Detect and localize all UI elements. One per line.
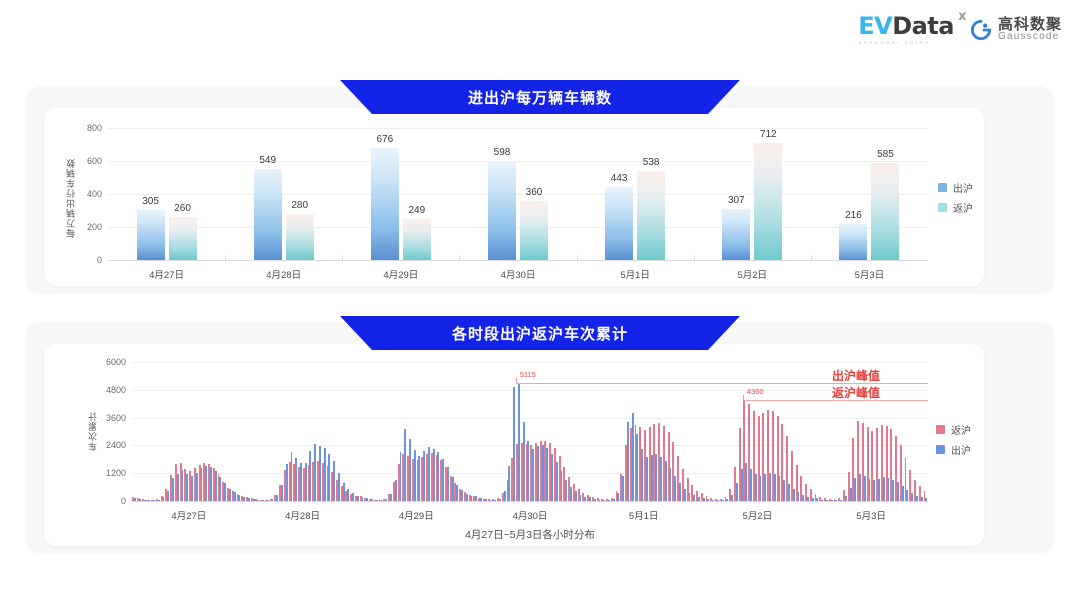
chart2-hbar-out: [906, 490, 908, 501]
chart1-legend-swatch-返沪: [938, 203, 947, 212]
chart2-hbar-out: [556, 462, 558, 501]
chart1-title-banner: 进出沪每万辆车辆数: [340, 80, 740, 114]
chart2-hbar-out: [689, 493, 691, 501]
chart1-gridline: [108, 260, 928, 261]
chart2-x-tick-4月28日: 4月28日: [285, 508, 320, 522]
chart1-bar-value: 712: [760, 129, 777, 140]
chart2-hbar-out: [835, 500, 837, 501]
chart2-hbar-out: [182, 470, 184, 501]
chart2-hbar-out: [788, 484, 790, 501]
chart2-legend-label: 出沪: [951, 442, 971, 457]
chart2-hbar-out: [148, 500, 150, 501]
chart2-hbar-out: [608, 500, 610, 501]
chart2-hbar-out: [504, 491, 506, 501]
chart2-hbar-out: [366, 498, 368, 501]
chart2-hbar-out: [821, 500, 823, 502]
chart2-hbar-out: [755, 474, 757, 501]
gausscode-en: Gausscode: [998, 32, 1062, 43]
chart2-hbar-out: [428, 447, 430, 501]
chart2-hbar-out: [395, 480, 397, 501]
chart2-hbar-out: [338, 473, 340, 501]
chart2-hbar-out: [243, 497, 245, 501]
chart2-hbar-out: [779, 476, 781, 501]
chart2-hbar-out: [537, 446, 539, 501]
chart2-hbar-out: [210, 467, 212, 501]
chart2-hbar-out: [565, 480, 567, 501]
chart2-hbar-out: [267, 500, 269, 501]
chart2-hbar-out: [234, 492, 236, 501]
chart2-hbar-out: [679, 483, 681, 501]
chart2-hbar-out: [205, 466, 207, 501]
chart2-plot: 车次累计0120024003600480060004月27日4月28日4月29日…: [132, 362, 928, 501]
chart1-bar-value: 249: [409, 205, 426, 216]
chart1-y-tick: 400: [74, 189, 102, 199]
chart1-bar-返沪-5月1日: [637, 171, 665, 260]
chart2-y-tick: 1200: [96, 468, 126, 478]
chart2-hbar-out: [253, 499, 255, 501]
chart2-hbar-out: [201, 468, 203, 501]
chart2-hbar-out: [632, 413, 634, 501]
chart2-peak-value-fanhu: 4360: [747, 387, 764, 396]
chart1-bar-value: 598: [494, 147, 511, 158]
chart2-legend-swatch-出沪: [936, 445, 945, 454]
gausscode-cn: 高科数聚: [998, 17, 1062, 33]
chart2-hbar-out: [850, 488, 852, 501]
chart2-hbar-out: [769, 473, 771, 501]
chart2-hbar-out: [309, 451, 311, 501]
chart2-title-banner: 各时段出沪返沪车次累计: [340, 316, 740, 350]
chart2-hbar-out: [670, 468, 672, 501]
chart1-legend-item-出沪: 出沪: [938, 180, 973, 195]
chart2-hbar-out: [665, 461, 667, 501]
chart1-bar-返沪-4月28日: [286, 214, 314, 260]
chart2-hbar-out: [580, 495, 582, 501]
chart2-hbar-out: [286, 464, 288, 501]
chart2-peak-value-chuhu: 5115: [520, 370, 536, 379]
chart1-x-tick-5月1日: 5月1日: [620, 267, 650, 281]
chart1-plot: 每万辆出行车辆数02004006008003052604月27日5492804月…: [108, 128, 928, 260]
chart2-hbar-out: [381, 500, 383, 501]
chart2-hbar-out: [622, 476, 624, 501]
chart2-hbar-out: [864, 476, 866, 501]
chart1-bar-出沪-5月1日: [605, 187, 633, 260]
chart2-hbar-out: [883, 477, 885, 501]
chart2-x-tick-4月29日: 4月29日: [399, 508, 434, 522]
chart2-x-tick-4月30日: 4月30日: [513, 508, 548, 522]
chart2-hbar-out: [764, 474, 766, 501]
chart2-hbar-out: [845, 496, 847, 501]
chart1-bar-value: 538: [643, 157, 660, 168]
chart1-y-tick: 0: [74, 255, 102, 265]
chart2-hbar-out: [352, 493, 354, 501]
chart2-hbar-out: [490, 500, 492, 501]
chart2-hbar-out: [551, 454, 553, 501]
chart1-bar-出沪-5月2日: [722, 209, 750, 260]
chart1-legend-label: 出沪: [953, 180, 973, 195]
chart1-gridline: [108, 194, 928, 195]
chart2-hbar-out: [527, 441, 529, 501]
chart2-hbar-out: [452, 477, 454, 501]
chart1-bar-value: 305: [142, 196, 159, 207]
chart1-bar-出沪-4月27日: [137, 210, 165, 260]
chart2-caption: 4月27日~5月3日各小时分布: [465, 527, 595, 542]
chart1-bar-返沪-4月29日: [403, 219, 431, 260]
chart2-hbar-out: [485, 499, 487, 501]
chart2-hbar-out: [456, 485, 458, 501]
chart2-hbar-out: [518, 383, 520, 501]
chart2-hbar-out: [826, 500, 828, 501]
chart2-hbar-out: [229, 489, 231, 501]
chart1-bar-value: 676: [377, 134, 394, 145]
chart1-bar-出沪-5月3日: [839, 224, 867, 260]
chart2-y-tick: 2400: [96, 440, 126, 450]
chart2-hbar-out: [167, 491, 169, 501]
chart2-hbar-out: [655, 454, 657, 501]
chart2-x-tick-5月3日: 5月3日: [856, 508, 886, 522]
chart2-hbar-out: [869, 479, 871, 501]
chart2-hbar-out: [745, 463, 747, 501]
page-header: EVData x SHANGHAI CHINA 高科数聚 Gausscode: [0, 0, 1080, 62]
chart2-hbar-out: [333, 461, 335, 501]
chart2-hbar-out: [390, 494, 392, 501]
chart1-gridline: [108, 227, 928, 228]
chart2-hbar-out: [660, 457, 662, 501]
chart2-y-axis-label: 车次累计: [86, 382, 99, 481]
chart1-bar-value: 260: [174, 203, 191, 214]
chart2-gridline: [132, 390, 928, 391]
chart2-hbar-out: [404, 429, 406, 501]
chart2-hbar-out: [722, 500, 724, 501]
chart2-hbar-out: [798, 492, 800, 501]
chart2-hbar-out: [508, 466, 510, 501]
chart2-hbar-out: [594, 499, 596, 501]
chart2-hbar-out: [418, 456, 420, 501]
chart1-x-tick-4月27日: 4月27日: [149, 267, 184, 281]
chart2-hbar-out: [854, 478, 856, 501]
chart2-hbar-out: [570, 487, 572, 501]
chart2-hbar-out: [305, 463, 307, 501]
chart2-hbar-out: [831, 500, 833, 501]
chart2-hbar-out: [816, 498, 818, 501]
chart2-hbar-out: [433, 449, 435, 501]
chart1-bar-value: 360: [526, 187, 543, 198]
chart2-hbar-out: [902, 486, 904, 501]
chart2-hbar-out: [475, 496, 477, 501]
chart2-hbar-out: [736, 483, 738, 501]
chart1-bar-value: 307: [728, 195, 745, 206]
evdata-superscript-x: x: [958, 10, 966, 23]
chart2-hbar-out: [219, 477, 221, 501]
chart2-hbar-out: [599, 500, 601, 502]
chart1-x-tick-4月29日: 4月29日: [383, 267, 418, 281]
chart2-hbar-out: [281, 485, 283, 501]
chart2-hbar-out: [257, 500, 259, 501]
chart2-gridline: [132, 501, 928, 502]
chart2-hbar-out: [215, 471, 217, 501]
chart2-hbar-out: [400, 452, 402, 501]
evdata-wordmark: EVData x: [858, 14, 954, 38]
chart2-hbar-out: [575, 491, 577, 501]
chart2-hbar-out: [139, 499, 141, 501]
chart1-x-gridmark: [577, 255, 578, 260]
chart2-hbar-out: [414, 450, 416, 501]
chart2-peaktick-fanhu: [743, 395, 744, 400]
chart2-hbar-out: [731, 495, 733, 501]
chart2-hbar-out: [276, 495, 278, 501]
chart2-hbar-out: [873, 480, 875, 501]
chart2-hbar-out: [295, 458, 297, 501]
chart1-y-tick: 600: [74, 156, 102, 166]
chart2-hbar-out: [774, 474, 776, 501]
chart2-hbar-out: [698, 497, 700, 501]
chart2-hbar-out: [532, 449, 534, 501]
chart2-hbar-out: [916, 496, 918, 501]
chart1-bar-value: 443: [611, 173, 628, 184]
chart2-hbar-out: [703, 498, 705, 501]
chart2-legend-item-返沪: 返沪: [936, 422, 971, 437]
chart1-gridline: [108, 128, 928, 129]
chart2-hbar-out: [693, 495, 695, 501]
chart1-x-tick-5月3日: 5月3日: [855, 267, 885, 281]
evdata-subtitle: SHANGHAI CHINA: [858, 41, 930, 46]
chart2-hbar-out: [760, 476, 762, 501]
chart2-hbar-out: [191, 476, 193, 501]
chart2-hbar-out: [627, 422, 629, 501]
chart2-hbar-out: [589, 497, 591, 501]
chart2-hbar-out: [859, 474, 861, 501]
chart2-hbar-out: [272, 499, 274, 501]
chart2-hbar-out: [442, 459, 444, 501]
chart2-hbar-out: [793, 489, 795, 502]
chart2-hbar-out: [196, 473, 198, 501]
chart2-hbar-out: [471, 496, 473, 501]
chart2-hbar-out: [636, 434, 638, 501]
chart1-x-tick-4月30日: 4月30日: [501, 267, 536, 281]
chart2-peak-label-fanhu: 返沪峰值: [832, 384, 880, 401]
chart2-hbar-out: [362, 497, 364, 501]
chart2-hbar-out: [750, 469, 752, 501]
chart1-bar-返沪-4月27日: [169, 217, 197, 260]
chart1-bar-出沪-4月28日: [254, 169, 282, 260]
chart2-legend-item-出沪: 出沪: [936, 442, 971, 457]
chart2-hbar-out: [726, 499, 728, 501]
chart2-hbar-out: [163, 497, 165, 501]
chart2-hbar-out: [291, 452, 293, 501]
chart2-hbar-out: [328, 454, 330, 501]
chart1-x-gridmark: [811, 255, 812, 260]
chart2-y-tick: 4800: [96, 385, 126, 395]
chart2-hbar-out: [921, 497, 923, 501]
chart2-x-tick-5月1日: 5月1日: [629, 508, 659, 522]
chart2-legend-label: 返沪: [951, 422, 971, 437]
chart1-y-tick: 800: [74, 123, 102, 133]
chart1-bar-value: 549: [259, 155, 276, 166]
chart2-hbar-out: [499, 499, 501, 501]
chart1-legend-swatch-出沪: [938, 183, 947, 192]
chart2-hbar-out: [172, 478, 174, 501]
evdata-logo: EVData x SHANGHAI CHINA: [858, 14, 954, 46]
chart2-x-tick-4月27日: 4月27日: [171, 508, 206, 522]
chart1-bar-出沪-4月30日: [488, 161, 516, 260]
chart2-hbar-out: [741, 469, 743, 501]
chart1-x-gridmark: [459, 255, 460, 260]
chart1-title-text: 进出沪每万辆车辆数: [468, 87, 612, 108]
chart2-hbar-out: [319, 446, 321, 501]
chart2-gridline: [132, 362, 928, 363]
chart1-y-tick: 200: [74, 222, 102, 232]
chart2-y-tick: 3600: [96, 413, 126, 423]
chart2-hbar-out: [144, 500, 146, 501]
chart2-hbar-out: [177, 474, 179, 501]
chart1-x-tick-5月2日: 5月2日: [737, 267, 767, 281]
chart1-x-gridmark: [342, 255, 343, 260]
chart2-hbar-out: [783, 480, 785, 501]
chart2-hbar-out: [684, 489, 686, 501]
chart1-gridline: [108, 161, 928, 162]
chart2-hbar-out: [494, 500, 496, 501]
chart2-hbar-out: [617, 493, 619, 501]
chart2-hbar-out: [343, 483, 345, 501]
chart2-hbar-out: [385, 499, 387, 501]
evdata-ev-part: EV: [858, 12, 892, 40]
chart1-bar-返沪-4月30日: [520, 201, 548, 260]
chart2-hbar-out: [158, 500, 160, 501]
chart1-legend: 出沪返沪: [938, 180, 973, 215]
chart2-title-text: 各时段出沪返沪车次累计: [452, 323, 628, 344]
chart2-hbar-out: [248, 498, 250, 501]
chart2-hbar-out: [888, 478, 890, 501]
evdata-data-part: Data: [892, 12, 954, 40]
chart1-bar-返沪-5月2日: [754, 143, 782, 260]
chart2-hbar-out: [674, 476, 676, 501]
chart2-hbar-out: [523, 422, 525, 501]
chart2-hbar-out: [641, 449, 643, 501]
chart1-x-tick-4月28日: 4月28日: [266, 267, 301, 281]
chart2-hbar-out: [480, 498, 482, 501]
chart2-hbar-out: [925, 498, 927, 501]
gausscode-text: 高科数聚 Gausscode: [998, 17, 1062, 43]
chart2-hbar-out: [651, 455, 653, 501]
chart2-hbar-out: [371, 499, 373, 501]
chart2-hbar-out: [542, 445, 544, 501]
chart2-hbar-out: [584, 497, 586, 501]
logo-group: EVData x SHANGHAI CHINA 高科数聚 Gausscode: [858, 14, 1062, 46]
chart2-hbar-out: [513, 387, 515, 501]
chart2-hbar-out: [300, 463, 302, 501]
chart2-hbar-out: [878, 479, 880, 501]
chart2-hbar-out: [892, 480, 894, 501]
chart2-hbar-out: [897, 482, 899, 501]
chart2-hbar-out: [707, 499, 709, 501]
chart2-y-tick: 6000: [96, 357, 126, 367]
chart2-hbar-out: [347, 489, 349, 501]
chart2-hbar-out: [153, 500, 155, 501]
chart2-hbar-out: [807, 497, 809, 501]
chart1-bar-出沪-4月29日: [371, 148, 399, 260]
chart2-hbar-out: [646, 457, 648, 501]
chart2-hbar-out: [262, 500, 264, 501]
chart2-hbar-out: [466, 494, 468, 501]
chart2-hbar-out: [461, 490, 463, 501]
chart1-bar-返沪-5月3日: [871, 163, 899, 260]
chart2-legend-swatch-返沪: [936, 425, 945, 434]
chart2-hbar-out: [802, 495, 804, 501]
chart1-legend-item-返沪: 返沪: [938, 200, 973, 215]
chart2-peak-label-chuhu: 出沪峰值: [832, 367, 880, 384]
chart2-hbar-out: [561, 471, 563, 501]
chart2-hbar-out: [911, 493, 913, 501]
chart2-gridline: [132, 418, 928, 419]
chart2-hbar-out: [186, 474, 188, 501]
gausscode-logo: 高科数聚 Gausscode: [970, 17, 1062, 43]
chart2-y-tick: 0: [96, 496, 126, 506]
chart2-legend: 返沪出沪: [936, 422, 971, 457]
chart2-hbar-out: [134, 498, 136, 501]
chart2-hbar-out: [324, 448, 326, 501]
chart2-peaktick-chuhu: [516, 378, 517, 383]
gausscode-mark-icon: [970, 19, 992, 41]
chart2-hbar-out: [376, 500, 378, 501]
chart2-hbar-out: [437, 452, 439, 501]
chart2-hbar-out: [812, 498, 814, 501]
chart2-hbar-out: [409, 439, 411, 501]
chart2-hbar-out: [224, 483, 226, 501]
chart2-hbar-out: [717, 500, 719, 501]
chart2-hbar-out: [840, 500, 842, 501]
chart2-hbar-out: [546, 448, 548, 501]
chart1-bar-value: 585: [877, 149, 894, 160]
chart2-hbar-out: [357, 496, 359, 501]
chart2-hbar-out: [712, 500, 714, 501]
chart1-bar-value: 280: [291, 200, 308, 211]
chart2-hbar-out: [613, 499, 615, 501]
chart2-hbar-out: [238, 495, 240, 501]
chart1-x-gridmark: [225, 255, 226, 260]
chart2-hbar-out: [603, 500, 605, 501]
chart1-bar-value: 216: [845, 210, 862, 221]
chart1-legend-label: 返沪: [953, 200, 973, 215]
chart2-hbar-out: [447, 467, 449, 501]
chart2-hbar-out: [314, 444, 316, 501]
chart2-x-tick-5月2日: 5月2日: [743, 508, 773, 522]
chart2-hbar-out: [423, 451, 425, 501]
chart1-x-gridmark: [694, 255, 695, 260]
